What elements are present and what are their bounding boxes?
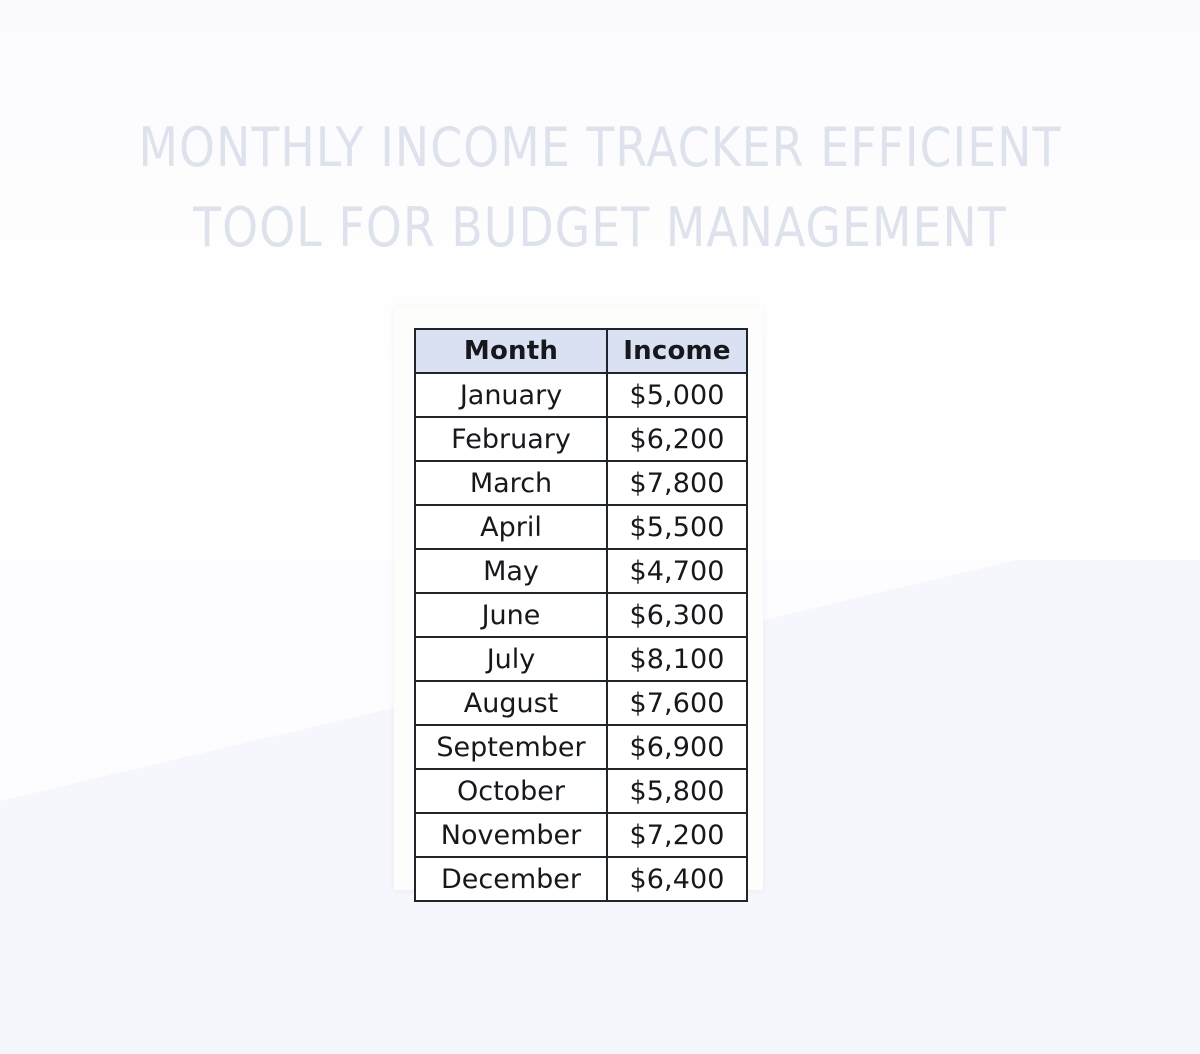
table-row: July $8,100 [415, 637, 747, 681]
cell-month: April [415, 505, 607, 549]
cell-income: $5,800 [607, 769, 747, 813]
table-row: January $5,000 [415, 373, 747, 417]
monthly-income-table: Month Income January $5,000 February $6,… [414, 328, 748, 902]
table-row: August $7,600 [415, 681, 747, 725]
cell-income: $8,100 [607, 637, 747, 681]
cell-month: October [415, 769, 607, 813]
cell-income: $7,200 [607, 813, 747, 857]
cell-month: May [415, 549, 607, 593]
table-row: December $6,400 [415, 857, 747, 901]
cell-month: November [415, 813, 607, 857]
cell-income: $7,800 [607, 461, 747, 505]
cell-month: December [415, 857, 607, 901]
cell-month: August [415, 681, 607, 725]
table-row: March $7,800 [415, 461, 747, 505]
table-row: April $5,500 [415, 505, 747, 549]
cell-income: $7,600 [607, 681, 747, 725]
table-row: October $5,800 [415, 769, 747, 813]
cell-income: $6,200 [607, 417, 747, 461]
cell-month: September [415, 725, 607, 769]
table-row: February $6,200 [415, 417, 747, 461]
table-body: January $5,000 February $6,200 March $7,… [415, 373, 747, 901]
cell-income: $6,300 [607, 593, 747, 637]
cell-month: March [415, 461, 607, 505]
cell-income: $5,500 [607, 505, 747, 549]
column-header-month: Month [415, 329, 607, 373]
cell-month: February [415, 417, 607, 461]
cell-month: July [415, 637, 607, 681]
column-header-income: Income [607, 329, 747, 373]
table-header-row: Month Income [415, 329, 747, 373]
cell-income: $6,900 [607, 725, 747, 769]
table-row: November $7,200 [415, 813, 747, 857]
cell-month: June [415, 593, 607, 637]
table-row: September $6,900 [415, 725, 747, 769]
cell-month: January [415, 373, 607, 417]
table-card: Month Income January $5,000 February $6,… [394, 307, 763, 890]
cell-income: $6,400 [607, 857, 747, 901]
cell-income: $5,000 [607, 373, 747, 417]
table-row: June $6,300 [415, 593, 747, 637]
table-row: May $4,700 [415, 549, 747, 593]
table-header: Month Income [415, 329, 747, 373]
page-root: MONTHLY INCOME TRACKER EFFICIENT TOOL FO… [0, 0, 1200, 1054]
cell-income: $4,700 [607, 549, 747, 593]
